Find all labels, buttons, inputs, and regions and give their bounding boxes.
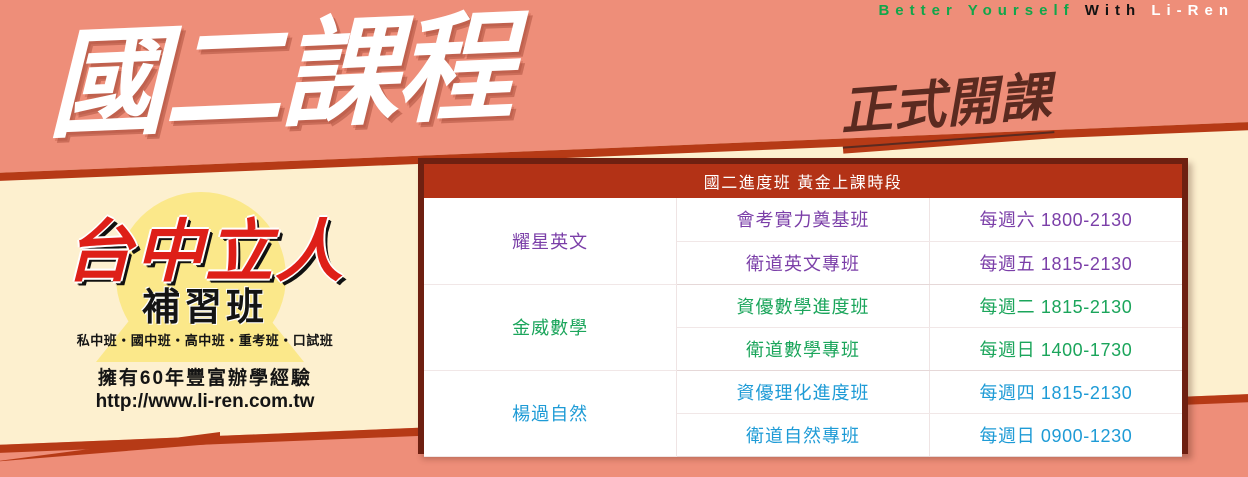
logo-block: 台中立人 補習班 私中班・國中班・高中班・重考班・口試班 擁有60年豐富辦學經驗… [30, 196, 380, 416]
tagline-part-3: Li-Ren [1151, 2, 1234, 19]
logo-experience-text: 擁有60年豐富辦學經驗 [30, 363, 380, 390]
table-row: 耀星英文會考實力奠基班每週六 1800-2130 [424, 198, 1182, 241]
logo-class-types: 私中班・國中班・高中班・重考班・口試班 [30, 330, 380, 349]
schedule-table-title: 國二進度班 黃金上課時段 [424, 164, 1182, 198]
schedule-table-body: 耀星英文會考實力奠基班每週六 1800-2130衛道英文專班每週五 1815-2… [424, 198, 1182, 456]
class-time-cell: 每週五 1815-2130 [929, 241, 1182, 284]
course-name-cell: 衛道英文專班 [677, 241, 930, 284]
sub-title-text: 正式開課 [838, 66, 1054, 142]
course-name-cell: 衛道數學專班 [677, 327, 930, 370]
class-time-cell: 每週六 1800-2130 [929, 198, 1182, 241]
tagline-part-2: With [1085, 2, 1141, 19]
tagline: Better Yourself With Li-Ren [878, 2, 1234, 19]
table-header-row: 國二進度班 黃金上課時段 [424, 164, 1182, 198]
course-name-cell: 資優理化進度班 [677, 370, 930, 413]
class-time-cell: 每週二 1815-2130 [929, 284, 1182, 327]
class-time-cell: 每週四 1815-2130 [929, 370, 1182, 413]
course-name-cell: 衛道自然專班 [677, 413, 930, 456]
subject-cell: 楊過自然 [424, 370, 677, 456]
class-time-cell: 每週日 0900-1230 [929, 413, 1182, 456]
subject-cell: 耀星英文 [424, 198, 677, 284]
table-row: 楊過自然資優理化進度班每週四 1815-2130 [424, 370, 1182, 413]
promo-banner: Better Yourself With Li-Ren 國二課程 正式開課 台中… [0, 0, 1248, 477]
tagline-part-1: Better Yourself [878, 2, 1074, 19]
class-time-cell: 每週日 1400-1730 [929, 327, 1182, 370]
logo-website-url[interactable]: http://www.li-ren.com.tw [30, 391, 380, 413]
subject-cell: 金威數學 [424, 284, 677, 370]
main-title: 國二課程 [48, 0, 512, 152]
course-name-cell: 資優數學進度班 [677, 284, 930, 327]
logo-brand-subtitle: 補習班 [30, 288, 380, 328]
table-row: 金威數學資優數學進度班每週二 1815-2130 [424, 284, 1182, 327]
schedule-table-head: 國二進度班 黃金上課時段 [424, 164, 1182, 198]
schedule-table-container: 國二進度班 黃金上課時段 耀星英文會考實力奠基班每週六 1800-2130衛道英… [418, 158, 1188, 454]
sub-title-block: 正式開課 [837, 54, 1055, 153]
logo-brand-name: 台中立人 [30, 218, 380, 286]
schedule-table: 國二進度班 黃金上課時段 耀星英文會考實力奠基班每週六 1800-2130衛道英… [424, 164, 1182, 457]
course-name-cell: 會考實力奠基班 [677, 198, 930, 241]
